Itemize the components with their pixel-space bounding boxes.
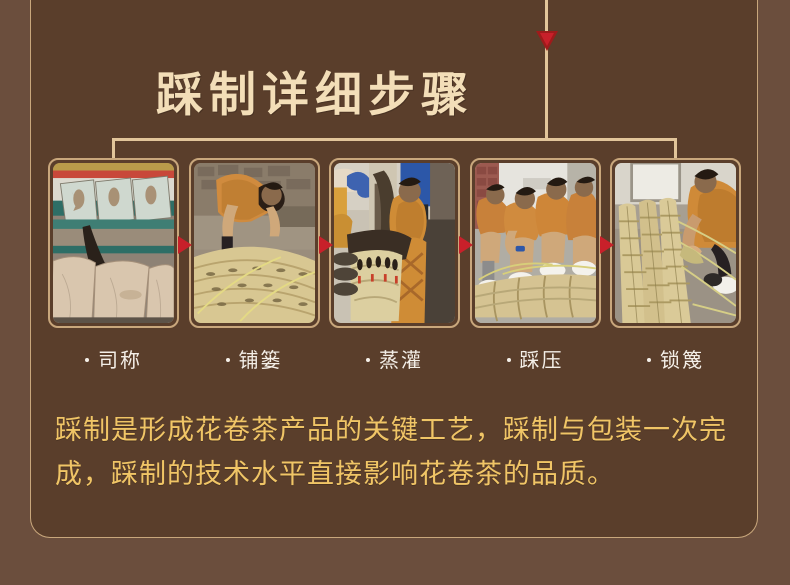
photo-worker-laying-bamboo-basket-mat (194, 163, 315, 323)
bullet-dot (647, 358, 651, 362)
step-item[interactable]: 蒸灌 (329, 158, 460, 373)
photo-weighing-tea-into-sacks (53, 163, 174, 323)
photo-steaming-and-filling-basket (334, 163, 455, 323)
bullet-dot (366, 358, 370, 362)
step-item[interactable]: 铺篓 (189, 158, 320, 373)
page-title: 踩制详细步骤 (0, 56, 790, 125)
step-item[interactable]: 锁篾 (610, 158, 741, 373)
step-item[interactable]: 踩压 (470, 158, 601, 373)
steps-strip: 司称 (48, 158, 741, 373)
description-paragraph: 踩制是形成花卷茶产品的关键工艺，踩制与包装一次完成，踩制的技术水平直接影响花卷茶… (55, 408, 735, 496)
photo-finished-tea-logs-binding-bamboo (615, 163, 736, 323)
step-caption-label: 蒸灌 (379, 350, 423, 372)
step-caption-label: 司称 (98, 350, 142, 372)
down-triangle-marker-inner (540, 33, 554, 46)
bullet-dot (226, 358, 230, 362)
step-image-card[interactable] (329, 158, 460, 328)
right-arrow-icon (459, 236, 473, 254)
step-caption: 司称 (48, 344, 179, 373)
step-image-card[interactable] (610, 158, 741, 328)
step-caption-label: 铺篓 (239, 350, 283, 372)
right-arrow-icon (600, 236, 614, 254)
bullet-dot (507, 358, 511, 362)
photo-workers-treading-tea-log (475, 163, 596, 323)
step-caption-label: 踩压 (520, 350, 564, 372)
bracket (112, 138, 677, 159)
right-arrow-icon (178, 236, 192, 254)
step-image-card[interactable] (189, 158, 320, 328)
step-caption: 踩压 (470, 344, 601, 373)
step-item[interactable]: 司称 (48, 158, 179, 373)
right-arrow-icon (319, 236, 333, 254)
step-caption: 铺篓 (189, 344, 320, 373)
step-caption: 锁篾 (610, 344, 741, 373)
step-caption: 蒸灌 (329, 344, 460, 373)
step-caption-label: 锁篾 (660, 350, 704, 372)
step-image-card[interactable] (48, 158, 179, 328)
bullet-dot (85, 358, 89, 362)
step-image-card[interactable] (470, 158, 601, 328)
